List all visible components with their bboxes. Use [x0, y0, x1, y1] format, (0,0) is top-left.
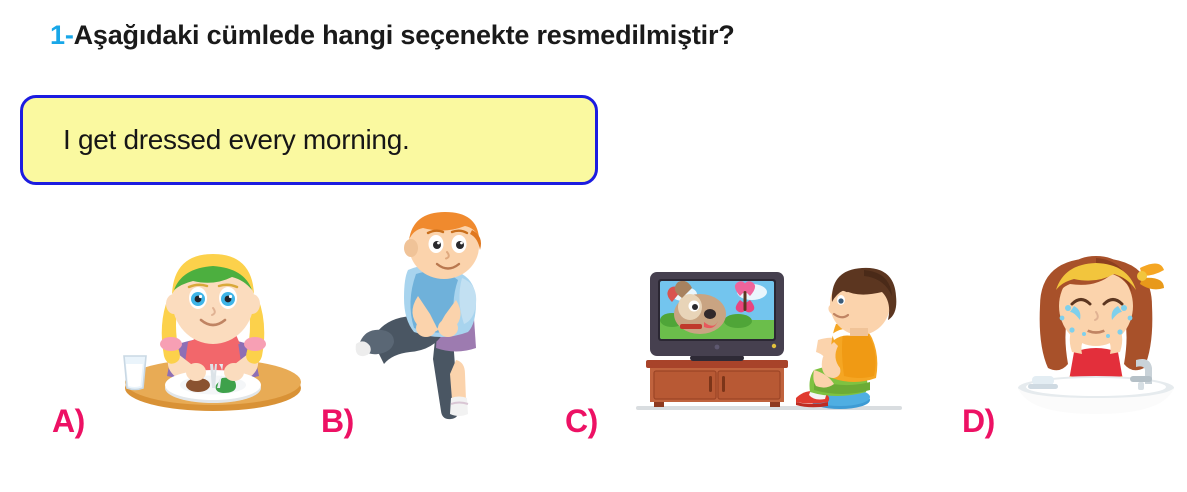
page-title: 1-Aşağıdaki cümlede hangi seçenekte resm… — [50, 20, 735, 51]
sentence-box: I get dressed every morning. — [20, 95, 598, 185]
option-b-illustration[interactable] — [352, 212, 512, 420]
question-text: Aşağıdaki cümlede hangi seçenekte resmed… — [74, 20, 735, 50]
option-a-illustration[interactable] — [118, 238, 308, 413]
worksheet-page: 1-Aşağıdaki cümlede hangi seçenekte resm… — [0, 0, 1187, 492]
sentence-text: I get dressed every morning. — [23, 124, 409, 156]
option-c-illustration[interactable] — [628, 258, 918, 416]
option-label-d[interactable]: D) — [962, 403, 995, 440]
option-label-a[interactable]: A) — [52, 403, 85, 440]
option-label-b[interactable]: B) — [321, 403, 354, 440]
question-number: 1- — [50, 20, 74, 50]
option-d-illustration[interactable] — [1012, 248, 1180, 416]
option-label-c[interactable]: C) — [565, 403, 598, 440]
